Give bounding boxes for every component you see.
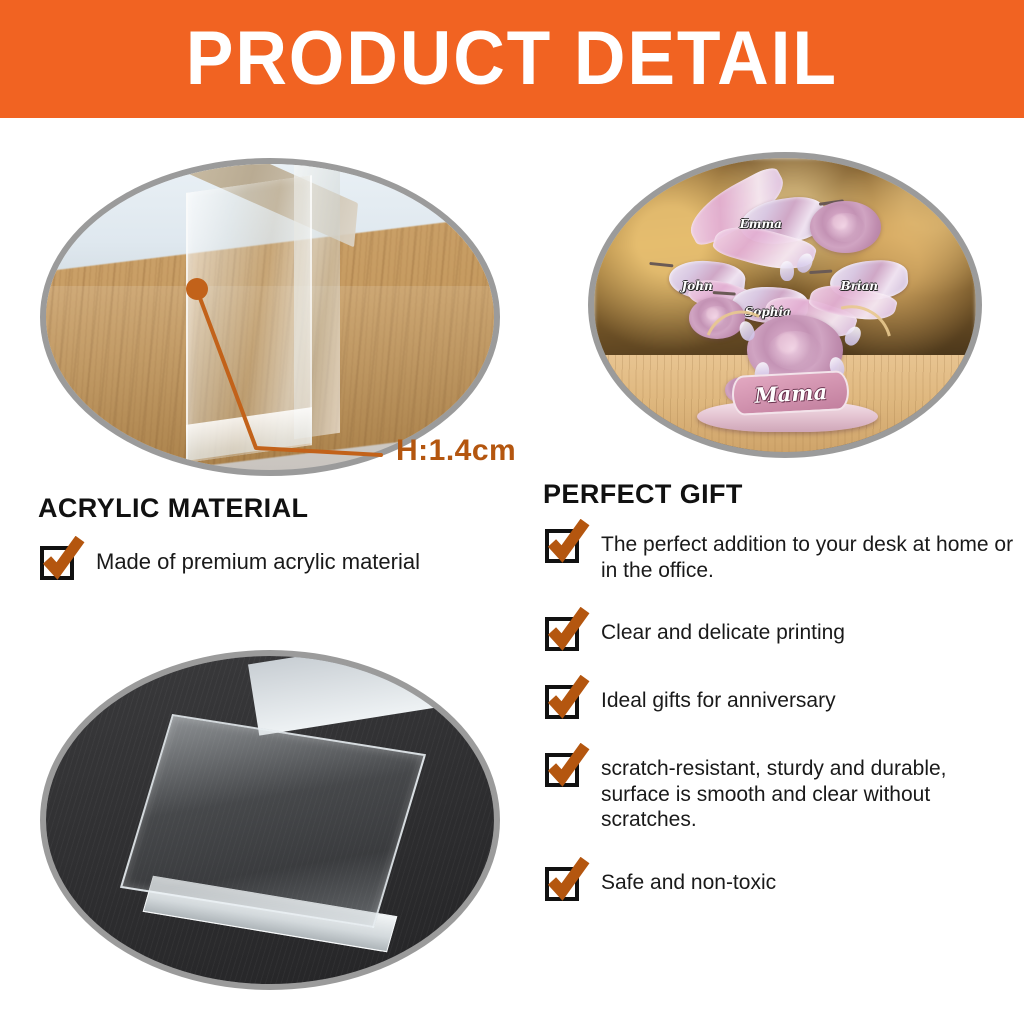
checkmark-icon bbox=[544, 519, 590, 565]
checkbox-checked-icon bbox=[545, 523, 585, 563]
product-photo-scene: Emma John Sophia Brian bbox=[594, 158, 976, 452]
checkbox-checked-icon bbox=[545, 611, 585, 651]
edge-photo-scene bbox=[46, 164, 494, 470]
feature-gift-2: Clear and delicate printing bbox=[545, 611, 1015, 651]
product-detail-page: PRODUCT DETAIL H:1.4cm bbox=[0, 0, 1024, 1024]
header-banner: PRODUCT DETAIL bbox=[0, 0, 1024, 118]
checkbox-checked-icon bbox=[545, 679, 585, 719]
product-photo: Emma John Sophia Brian bbox=[588, 152, 982, 458]
bird-name-emma: Emma bbox=[740, 217, 782, 231]
acrylic-edge-photo bbox=[40, 158, 500, 476]
crystal-a bbox=[780, 261, 794, 281]
feature-text: Ideal gifts for anniversary bbox=[601, 679, 836, 714]
checkmark-icon bbox=[544, 607, 590, 653]
page-title: PRODUCT DETAIL bbox=[186, 21, 838, 97]
base-nameplate: Mama bbox=[731, 370, 850, 416]
bird-name-john: John bbox=[682, 279, 713, 293]
feature-text: Safe and non-toxic bbox=[601, 861, 776, 896]
feature-gift-5: Safe and non-toxic bbox=[545, 861, 1015, 901]
feature-text: scratch-resistant, sturdy and durable, s… bbox=[601, 747, 1015, 833]
hummingbird-figurine: Emma John Sophia Brian bbox=[664, 176, 916, 435]
bird-name-brian: Brian bbox=[840, 279, 878, 293]
feature-text: The perfect addition to your desk at hom… bbox=[601, 523, 1015, 583]
checkmark-icon bbox=[544, 675, 590, 721]
blank-photo-scene bbox=[46, 656, 494, 984]
feature-text: Clear and delicate printing bbox=[601, 611, 845, 646]
perfect-gift-feature-list: The perfect addition to your desk at hom… bbox=[545, 523, 1015, 929]
section-heading-acrylic-material: ACRYLIC MATERIAL bbox=[38, 493, 308, 524]
beak-brian bbox=[809, 270, 833, 275]
feature-text: Made of premium acrylic material bbox=[96, 540, 420, 576]
rose-top-right bbox=[810, 201, 881, 253]
feature-gift-1: The perfect addition to your desk at hom… bbox=[545, 523, 1015, 583]
checkmark-icon bbox=[544, 743, 590, 789]
checkmark-icon bbox=[39, 536, 85, 582]
checkbox-checked-icon bbox=[40, 540, 80, 580]
checkmark-icon bbox=[544, 857, 590, 903]
section-heading-perfect-gift: PERFECT GIFT bbox=[543, 479, 743, 510]
acrylic-block-photo bbox=[40, 650, 500, 990]
feature-gift-4: scratch-resistant, sturdy and durable, s… bbox=[545, 747, 1015, 833]
base-nameplate-text: Mama bbox=[754, 379, 828, 408]
dimension-label: H:1.4cm bbox=[396, 434, 516, 468]
checkbox-checked-icon bbox=[545, 861, 585, 901]
dimension-anchor-dot bbox=[186, 278, 208, 300]
checkbox-checked-icon bbox=[545, 747, 585, 787]
feature-acrylic-material: Made of premium acrylic material bbox=[40, 540, 510, 580]
feature-gift-3: Ideal gifts for anniversary bbox=[545, 679, 1015, 719]
